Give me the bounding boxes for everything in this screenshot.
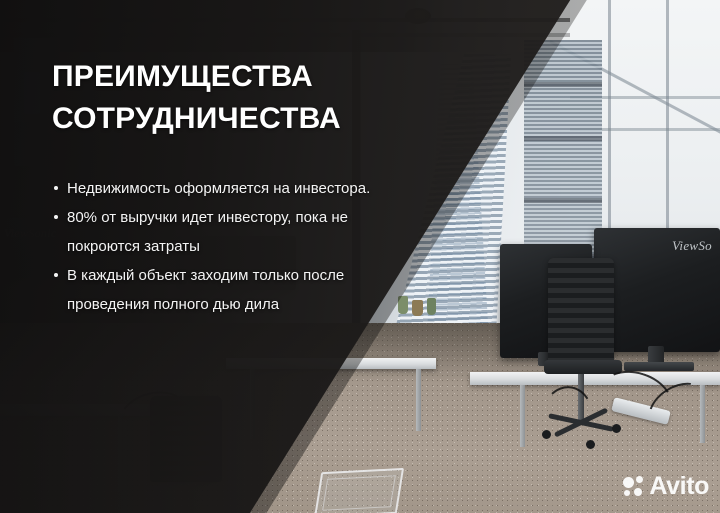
plant (427, 298, 436, 315)
avito-dot (623, 477, 634, 488)
office-chair-back (548, 258, 614, 364)
list-item: 80% от выручки идет инвестору, пока не п… (52, 203, 382, 261)
slide-title-line-1: ПРЕИМУЩЕСТВА (52, 56, 382, 98)
desk-leg (520, 385, 525, 447)
monitor-stand-foot (624, 362, 694, 371)
slide-content: ПРЕИМУЩЕСТВА СОТРУДНИЧЕСТВА Недвижимость… (52, 56, 382, 319)
floor-outlet-box (314, 468, 404, 513)
avito-dot (636, 476, 643, 483)
benefit-list: Недвижимость оформляется на инвестора. 8… (52, 174, 382, 319)
slide-title-line-2: СОТРУДНИЧЕСТВА (52, 98, 382, 140)
avito-dot (624, 490, 630, 496)
avito-dots-logo-icon (623, 476, 645, 498)
list-item: Недвижимость оформляется на инвестора. (52, 174, 382, 203)
avito-watermark: Avito (623, 474, 709, 499)
floor-outlet-inner (322, 475, 396, 511)
cityscape-band (524, 136, 602, 141)
desk-leg (416, 369, 421, 431)
slide-title: ПРЕИМУЩЕСТВА СОТРУДНИЧЕСТВА (52, 56, 382, 140)
avito-wordmark: Avito (649, 474, 709, 499)
cityscape-band (524, 198, 602, 203)
plant (412, 300, 423, 316)
office-chair-seat (544, 360, 622, 374)
slide-root: ViewSo ViewSonic (0, 0, 720, 513)
list-item: В каждый объект заходим только после про… (52, 261, 382, 319)
monitor-brand-label: ViewSo (672, 238, 712, 254)
avito-dot (634, 488, 642, 496)
cityscape-band (524, 82, 602, 87)
